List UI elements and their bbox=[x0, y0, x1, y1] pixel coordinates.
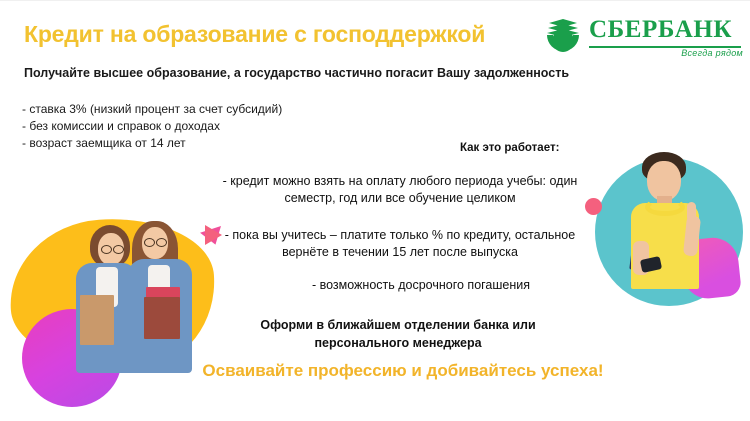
headphones-icon bbox=[645, 198, 685, 216]
face bbox=[647, 161, 681, 201]
cta-highlight-text: Осваивайте профессию и добивайтесь успех… bbox=[188, 361, 618, 381]
page-subtitle: Получайте высшее образование, а государс… bbox=[24, 66, 569, 80]
promo-slide: Кредит на образование с господдержкой СБ… bbox=[0, 0, 750, 421]
glasses-left-lens-icon bbox=[101, 245, 112, 254]
page-title: Кредит на образование с господдержкой bbox=[24, 21, 485, 48]
how-it-works-label: Как это работает: bbox=[460, 142, 559, 154]
cta-primary-text: Оформи в ближайшем отделении банка или п… bbox=[212, 316, 584, 352]
sberbank-chevron-circle-icon bbox=[543, 19, 583, 55]
sberbank-logo: СБЕРБАНК Всегда рядом bbox=[543, 15, 743, 61]
logo-tagline: Всегда рядом bbox=[681, 48, 743, 58]
book bbox=[80, 295, 114, 345]
book bbox=[144, 297, 180, 339]
glasses-left-lens-icon bbox=[144, 238, 155, 247]
glasses-right-lens-icon bbox=[156, 238, 167, 247]
benefit-item: - ставка 3% (низкий процент за счет субс… bbox=[22, 101, 282, 118]
how-it-works-point: - пока вы учитесь – платите только % по … bbox=[214, 227, 586, 261]
logo-wordmark: СБЕРБАНК bbox=[589, 16, 732, 44]
benefit-item: - без комиссии и справок о доходах bbox=[22, 118, 282, 135]
pointing-finger bbox=[687, 202, 696, 222]
how-it-works-point: - кредит можно взять на оплату любого пе… bbox=[214, 173, 586, 207]
benefits-list: - ставка 3% (низкий процент за счет субс… bbox=[22, 101, 282, 152]
student-photo-right bbox=[585, 146, 750, 336]
glasses-right-lens-icon bbox=[113, 245, 124, 254]
pink-dot-decor-icon bbox=[585, 198, 602, 215]
how-it-works-point: - возможность досрочного погашения bbox=[248, 277, 594, 294]
benefit-item: - возраст заемщика от 14 лет bbox=[22, 135, 282, 152]
